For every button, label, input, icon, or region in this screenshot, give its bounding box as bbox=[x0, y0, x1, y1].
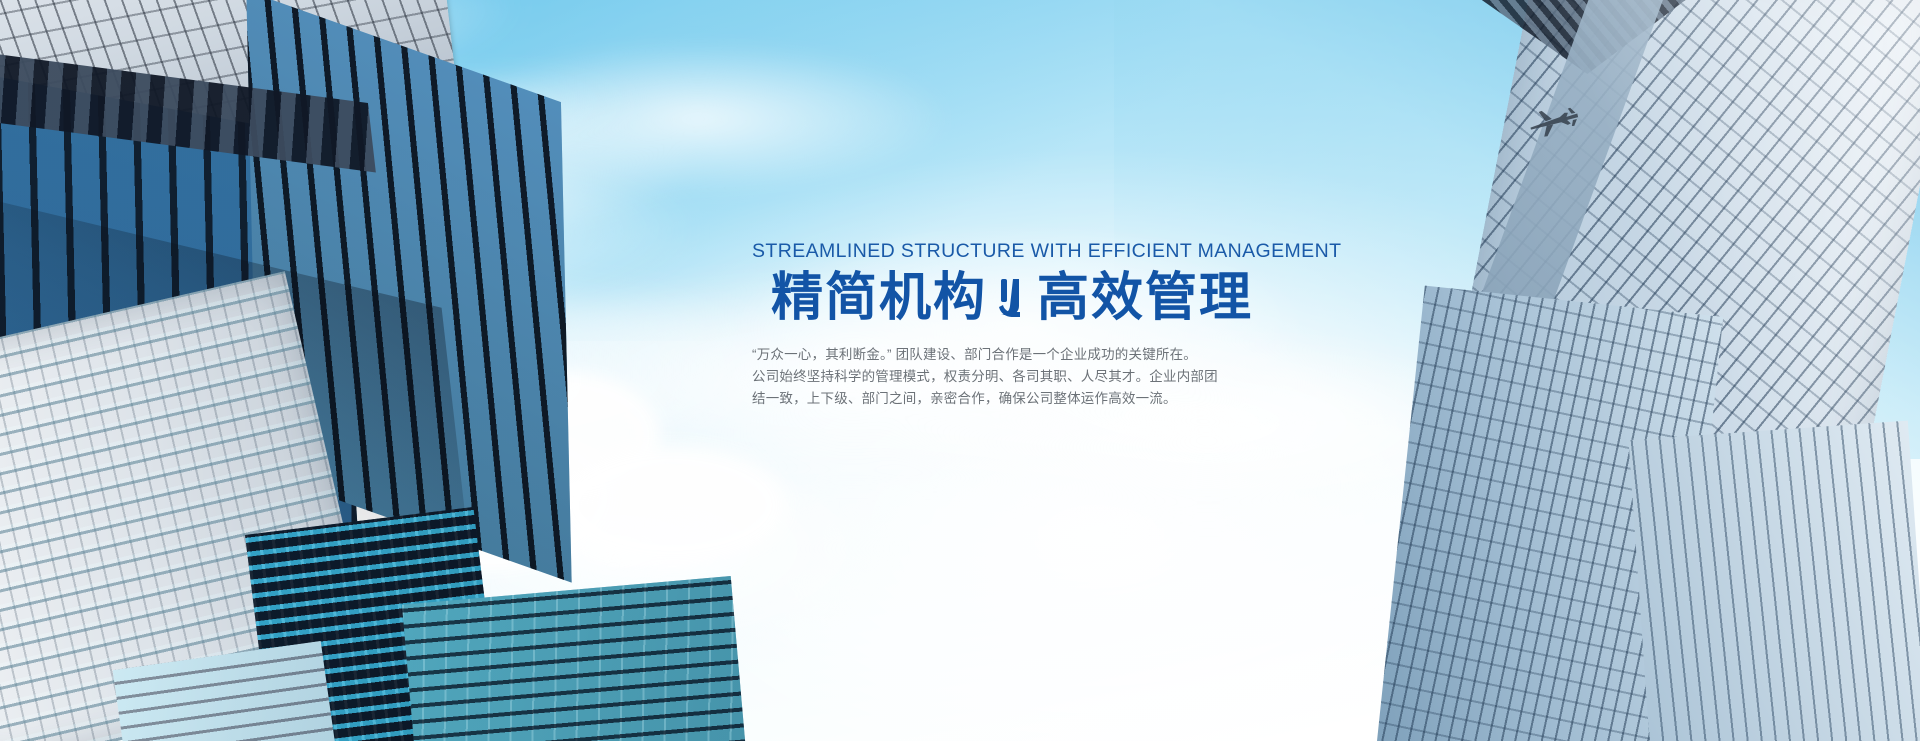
body-line: 结一致，上下级、部门之间，亲密合作，确保公司整体运作高效一流。 bbox=[752, 388, 1272, 410]
company-mark-icon bbox=[997, 277, 1027, 321]
teal-office-block bbox=[402, 576, 748, 741]
hero-banner: STREAMLINED STRUCTURE WITH EFFICIENT MAN… bbox=[0, 0, 1920, 741]
cloud-puff bbox=[557, 445, 787, 565]
headline-left-text: 精简机构 bbox=[771, 269, 987, 328]
headline-right-text: 高效管理 bbox=[1037, 269, 1253, 328]
banner-copy: STREAMLINED STRUCTURE WITH EFFICIENT MAN… bbox=[752, 240, 1272, 410]
banner-headline: 精简机构 高效管理 bbox=[752, 269, 1272, 328]
body-line: 公司始终坚持科学的管理模式，权责分明、各司其职、人尽其才。企业内部团 bbox=[752, 366, 1272, 388]
body-line: “万众一心，其利断金。” 团队建设、部门合作是一个企业成功的关键所在。 bbox=[752, 344, 1272, 366]
banner-body-copy: “万众一心，其利断金。” 团队建设、部门合作是一个企业成功的关键所在。 公司始终… bbox=[752, 344, 1272, 410]
right-tertiary-tower bbox=[1628, 421, 1920, 741]
banner-eyebrow: STREAMLINED STRUCTURE WITH EFFICIENT MAN… bbox=[752, 240, 1272, 263]
